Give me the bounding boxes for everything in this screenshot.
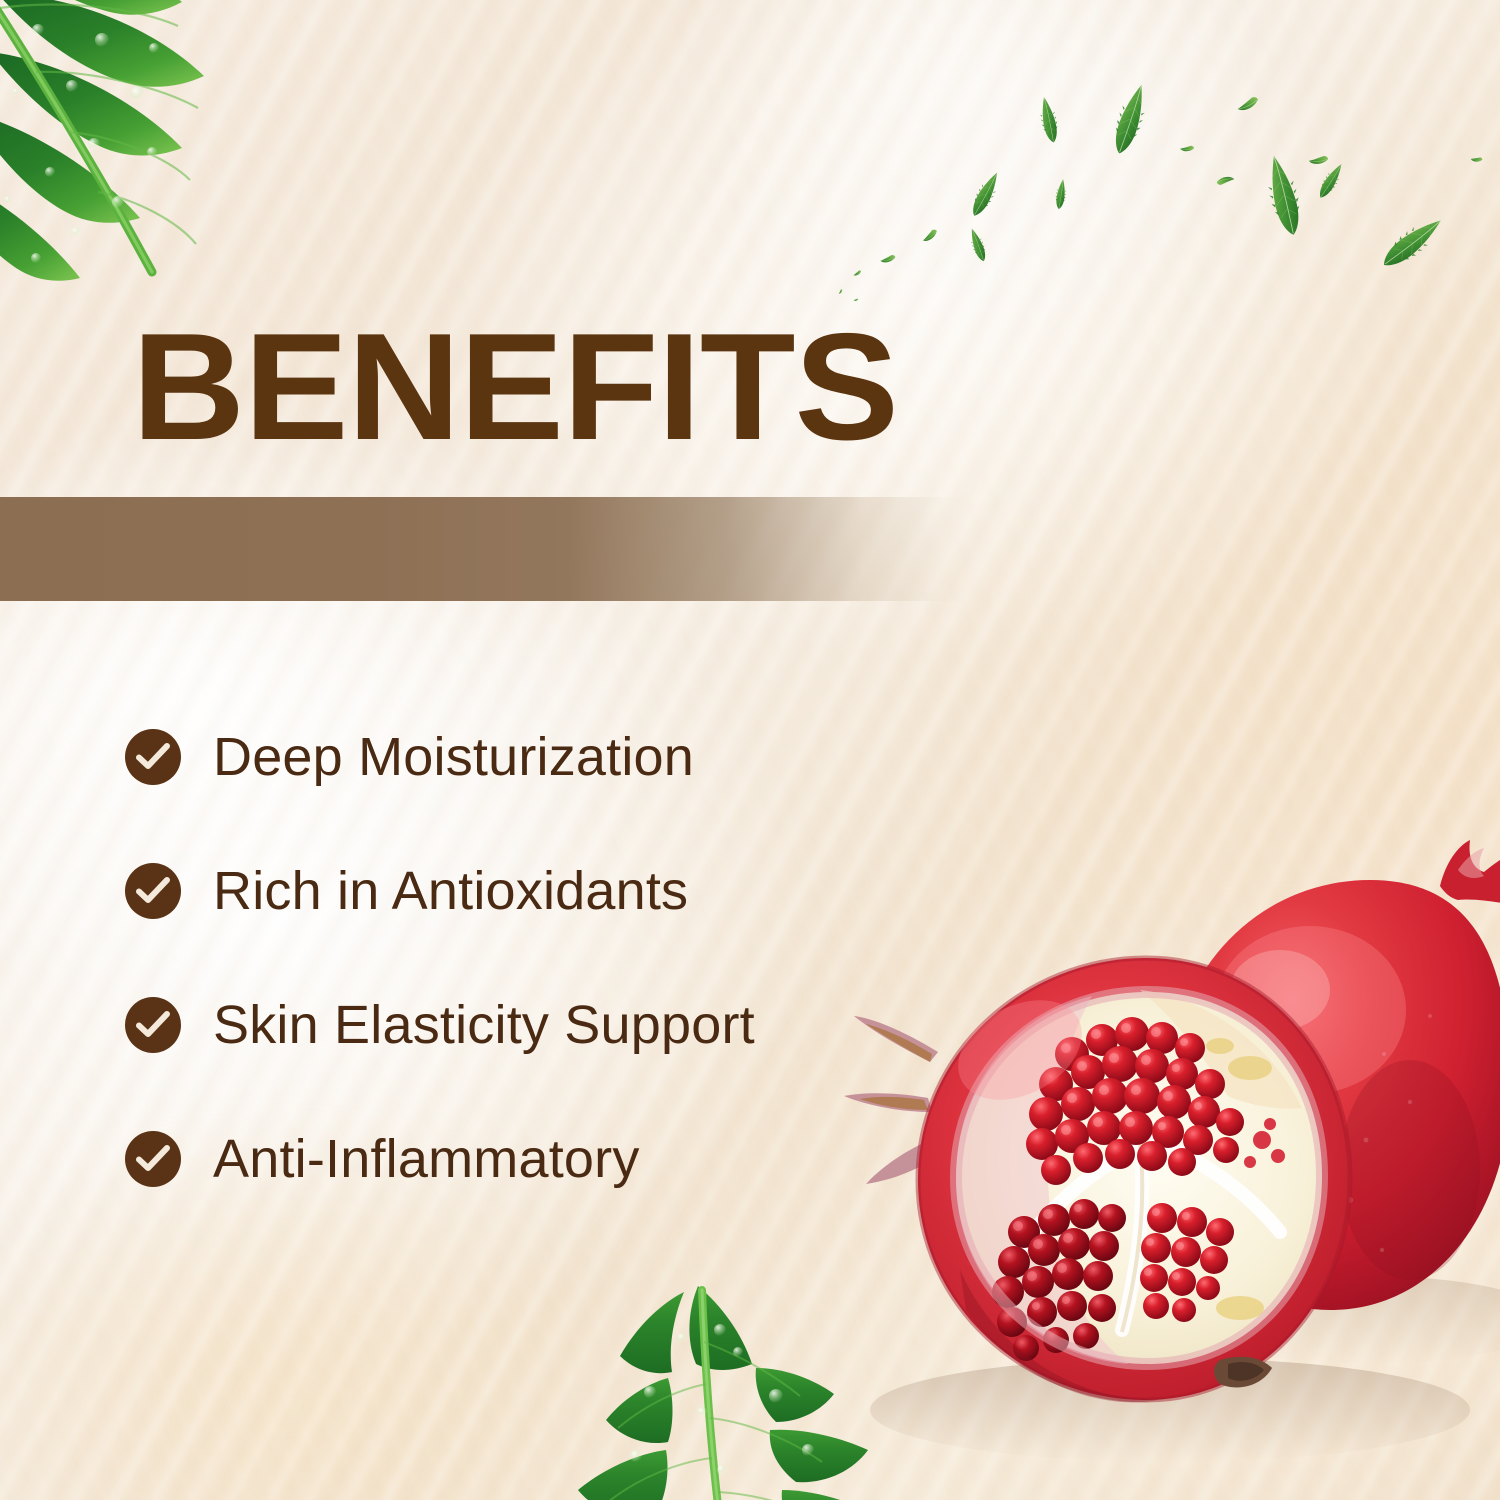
benefits-list: Deep Moisturization Rich in Antioxidants… [125, 690, 985, 1226]
list-item[interactable]: Skin Elasticity Support [125, 958, 985, 1092]
list-item-label: Skin Elasticity Support [213, 996, 755, 1054]
check-icon [125, 1131, 181, 1187]
check-icon [125, 863, 181, 919]
list-item[interactable]: Anti-Inflammatory [125, 1092, 985, 1226]
page-title: BENEFITS [132, 312, 898, 462]
check-icon [125, 997, 181, 1053]
list-item-label: Rich in Antioxidants [213, 862, 688, 920]
section-divider-bar [0, 497, 980, 601]
list-item[interactable]: Rich in Antioxidants [125, 824, 985, 958]
list-item[interactable]: Deep Moisturization [125, 690, 985, 824]
poster-canvas: BENEFITS Deep Moisturization Rich in Ant… [0, 0, 1500, 1500]
list-item-label: Anti-Inflammatory [213, 1130, 640, 1188]
list-item-label: Deep Moisturization [213, 728, 694, 786]
check-icon [125, 729, 181, 785]
